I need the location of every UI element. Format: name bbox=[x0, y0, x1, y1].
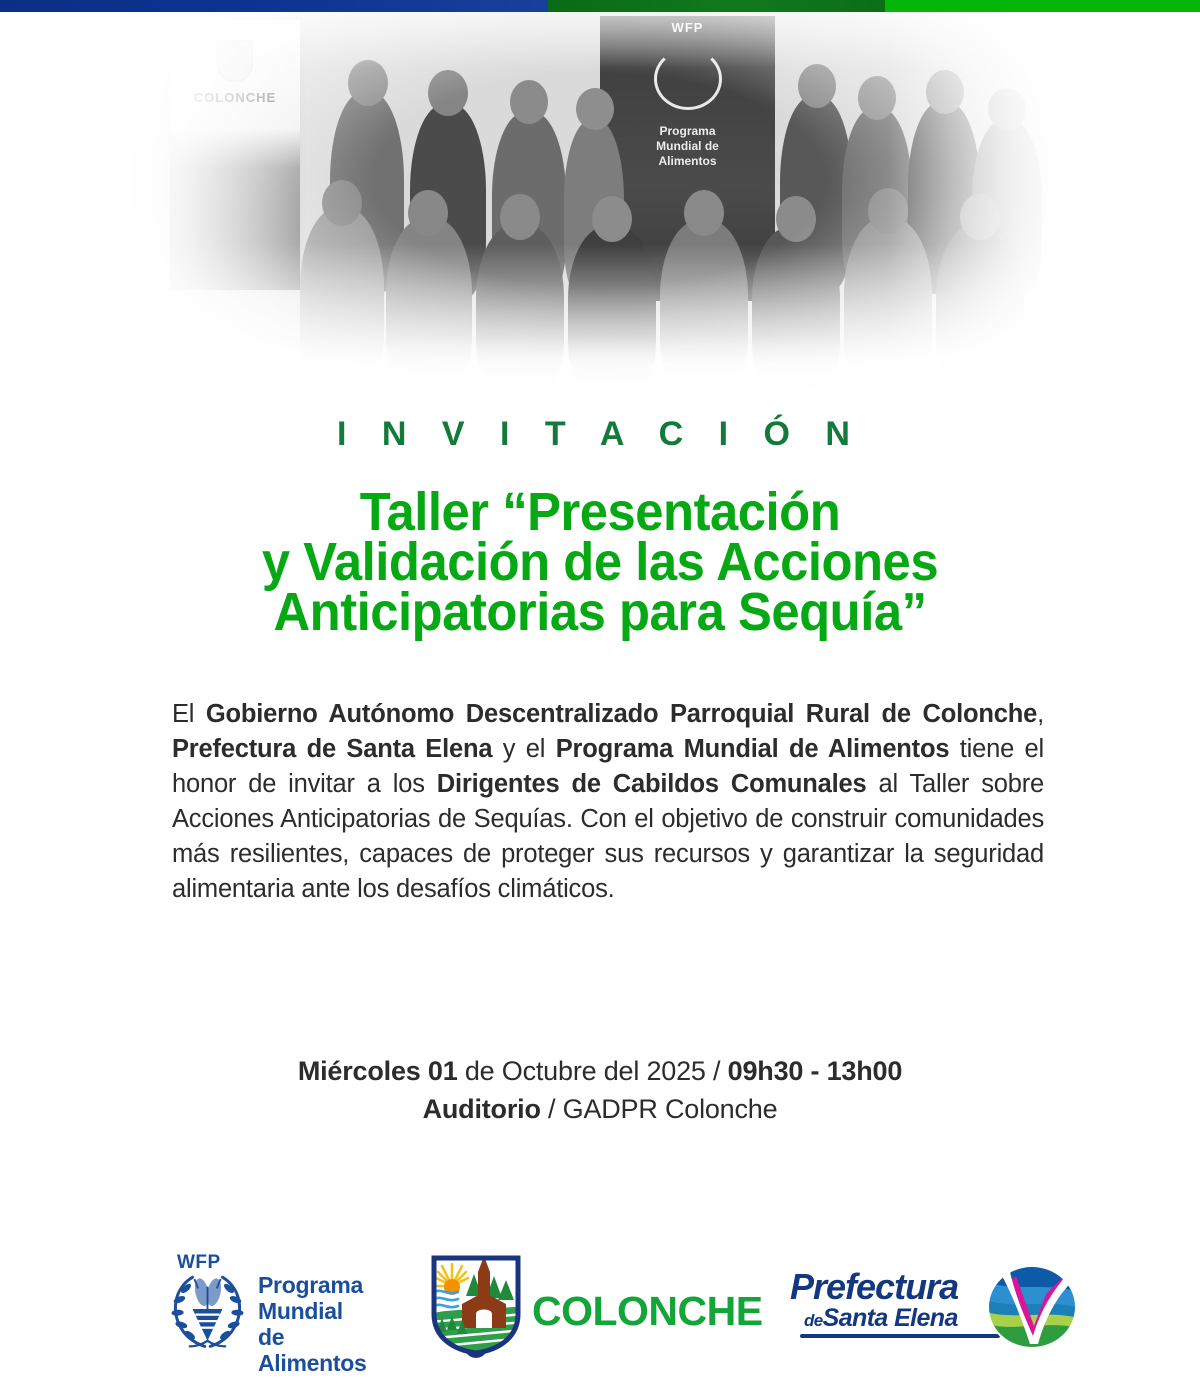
title-line-1: Taller “Presentación bbox=[36, 487, 1164, 537]
event-time: 09h30 - 13h00 bbox=[728, 1056, 903, 1086]
topbar-segment-bright-green bbox=[885, 0, 1200, 12]
prefectura-santa-elena: Santa Elena bbox=[823, 1304, 958, 1332]
wfp-name-line3: de Alimentos bbox=[258, 1324, 366, 1376]
wfp-wreath-icon bbox=[160, 1266, 255, 1352]
body-bold-gad: Gobierno Autónomo Descentralizado Parroq… bbox=[206, 700, 1037, 728]
page-title: Taller “Presentación y Validación de las… bbox=[36, 487, 1164, 637]
prefectura-emblem-icon bbox=[986, 1264, 1078, 1350]
prefectura-underline bbox=[800, 1334, 1000, 1338]
event-date-bold: Miércoles 01 bbox=[298, 1056, 458, 1086]
colonche-shield-icon bbox=[428, 1252, 524, 1358]
invitation-body: El Gobierno Autónomo Descentralizado Par… bbox=[172, 697, 1044, 907]
wfp-name: Programa Mundial de Alimentos bbox=[258, 1272, 370, 1376]
colonche-wordmark: COLONCHE bbox=[532, 1288, 763, 1335]
prefectura-de: de bbox=[804, 1311, 823, 1330]
wfp-name-line1: Programa bbox=[258, 1272, 363, 1298]
body-text-2: , bbox=[1037, 700, 1044, 728]
hero-photo: COLONCHE WFP ProgramaMundial deAlimentos bbox=[0, 12, 1200, 427]
logo-strip: WFP bbox=[0, 1248, 1200, 1368]
body-bold-prefectura: Prefectura de Santa Elena bbox=[172, 735, 492, 763]
logo-wfp: WFP bbox=[160, 1256, 370, 1356]
event-date-line: Miércoles 01 de Octubre del 2025 / 09h30… bbox=[0, 1052, 1200, 1090]
logo-prefectura: Prefectura deSanta Elena bbox=[790, 1264, 1080, 1352]
top-color-bar bbox=[0, 0, 1200, 12]
topbar-segment-blue bbox=[0, 0, 548, 12]
logo-colonche: COLONCHE bbox=[428, 1252, 748, 1362]
wfp-name-line2: Mundial bbox=[258, 1298, 343, 1324]
prefectura-line1: Prefectura bbox=[790, 1266, 958, 1308]
event-details: Miércoles 01 de Octubre del 2025 / 09h30… bbox=[0, 1052, 1200, 1128]
photo-bottom-fade bbox=[0, 337, 1200, 427]
invitation-poster: COLONCHE WFP ProgramaMundial deAlimentos bbox=[0, 0, 1200, 1400]
title-line-3: Anticipatorias para Sequía” bbox=[36, 587, 1164, 637]
event-date-rest: de Octubre del 2025 / bbox=[458, 1056, 728, 1086]
title-line-2: y Validación de las Acciones bbox=[36, 537, 1164, 587]
event-place-line: Auditorio / GADPR Colonche bbox=[0, 1090, 1200, 1128]
event-place-bold: Auditorio bbox=[423, 1094, 541, 1124]
prefectura-line2: deSanta Elena bbox=[804, 1304, 958, 1333]
body-bold-wfp: Programa Mundial de Alimentos bbox=[556, 735, 950, 763]
body-text-1: El bbox=[172, 700, 206, 728]
body-text-3: y el bbox=[492, 735, 555, 763]
event-place-rest: / GADPR Colonche bbox=[541, 1094, 778, 1124]
topbar-segment-dark-green bbox=[548, 0, 885, 12]
invitation-kicker: I N V I T A C I Ó N bbox=[0, 415, 1200, 454]
body-bold-dirigentes: Dirigentes de Cabildos Comunales bbox=[437, 770, 867, 798]
